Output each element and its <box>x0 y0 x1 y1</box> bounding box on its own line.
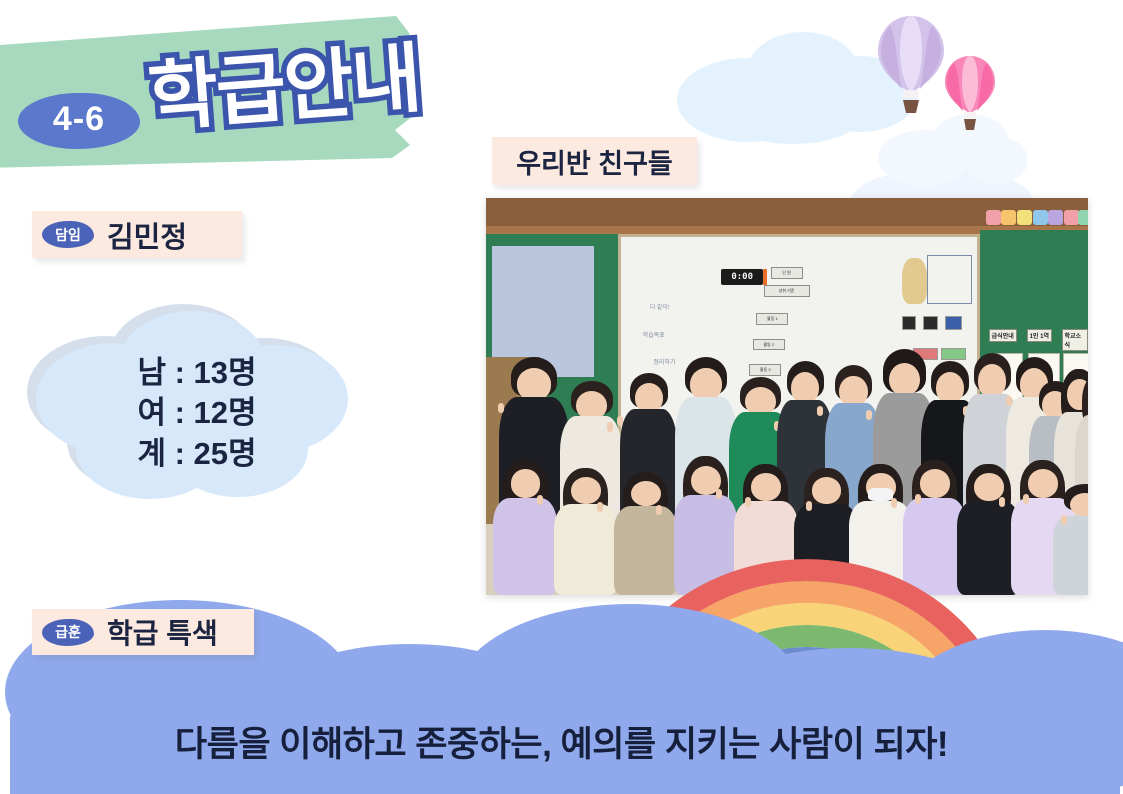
classroom-scene: 0:00 단 원 성취 기준 활동 1 활동 2 활동 3 다 같이! 학습목표… <box>486 198 1088 595</box>
timer-button <box>763 269 767 285</box>
whiteboard-note: 학습목표 <box>643 330 665 339</box>
teacher-label: 담임 김민정 <box>32 211 242 258</box>
magnet-card <box>945 316 963 330</box>
stuffed-toy <box>902 258 927 304</box>
page-title: 학급안내 <box>144 16 423 146</box>
motto-label: 급훈 학급 특색 <box>32 609 254 655</box>
magnet-card <box>923 316 937 330</box>
whiteboard-card: 단 원 <box>771 267 803 279</box>
motto-badge: 급훈 <box>42 619 94 646</box>
digital-timer-value: 0:00 <box>731 272 753 282</box>
bulletin-label: 학교소식 <box>1062 329 1089 351</box>
grade-badge: 4-6 <box>18 93 140 149</box>
digital-timer: 0:00 <box>721 269 764 285</box>
count-boys: 남 : 13명 <box>137 353 256 393</box>
letter-card-icon <box>1048 210 1063 225</box>
grade-badge-label: 4-6 <box>18 93 140 149</box>
teacher-name: 김민정 <box>107 214 187 256</box>
whiteboard-card: 활동 1 <box>756 313 788 325</box>
magnet-card <box>902 316 916 330</box>
photo-caption-label: 우리반 친구들 <box>492 137 697 185</box>
letter-card-icon <box>1078 210 1088 225</box>
student-front <box>492 460 558 595</box>
student-count-list: 남 : 13명 여 : 12명 계 : 25명 <box>22 303 372 518</box>
motto-heading: 학급 특색 <box>107 612 218 652</box>
letter-card-icon <box>986 210 1001 225</box>
class-motto-text: 다름을 이해하고 존중하는, 예의를 지키는 사람이 되자! <box>0 716 1123 767</box>
hot-air-balloon-pink-icon <box>941 54 999 134</box>
whiteboard-card: 활동 2 <box>753 339 785 351</box>
class-photo: 0:00 단 원 성취 기준 활동 1 활동 2 활동 3 다 같이! 학습목표… <box>486 198 1088 595</box>
hot-air-balloon-purple-icon <box>872 14 950 120</box>
face-mask <box>868 488 893 501</box>
student-front <box>1052 484 1088 595</box>
bulletin-label: 1인 1역 <box>1027 329 1052 342</box>
bulletin-label: 급식안내 <box>989 329 1017 342</box>
letter-card-icon <box>1033 210 1048 225</box>
teacher-badge: 담임 <box>42 221 94 248</box>
whiteboard-note: 다 같이! <box>650 302 670 311</box>
count-total: 계 : 25명 <box>137 434 256 474</box>
whiteboard-card: 성취 기준 <box>764 285 810 297</box>
letter-card-icon <box>1017 210 1032 225</box>
whiteboard-box <box>927 255 972 303</box>
letter-card-icon <box>1001 210 1016 225</box>
letter-card-icon <box>1064 210 1079 225</box>
count-girls: 여 : 12명 <box>137 393 256 433</box>
photo-caption-text: 우리반 친구들 <box>516 142 673 181</box>
class-intro-poster: 4-6 학급안내 담임 김민정 남 : 13명 <box>0 0 1123 794</box>
student-count-cloud: 남 : 13명 여 : 12명 계 : 25명 <box>22 303 372 518</box>
